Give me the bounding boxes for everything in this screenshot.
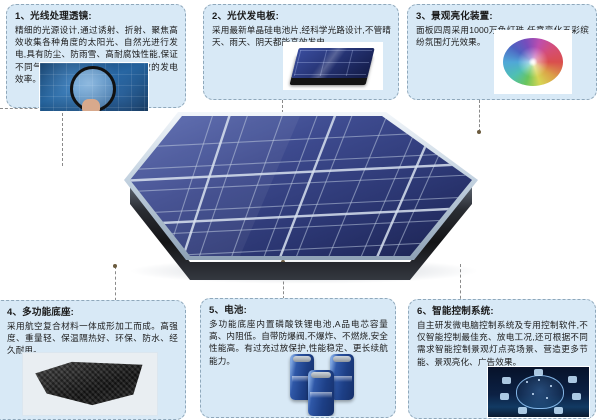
callout-title-4: 4、多功能底座: [7,306,178,319]
color-wheel-graphic [503,38,563,86]
callout-title-1: 1、光线处理透镜: [15,10,178,23]
iot-icon [502,377,511,384]
solar-module-photo [283,42,383,90]
hexagonal-solar-panel-render [120,108,490,296]
callout-title-3: 3、景观亮化装置: [416,10,589,23]
callout-title-6: 6、智能控制系统: [417,305,588,318]
lithium-cells-photo [272,352,386,416]
network-node [546,397,548,399]
iot-icon [572,393,581,400]
connector-line-p1 [62,108,63,166]
color-wheel-photo [494,30,572,94]
infographic-stage: 1、光线处理透镜: 精细的光源设计,通过诱射、折射、聚焦高效收集各种角度的太阳光… [0,0,600,418]
network-node [526,381,528,383]
iot-icon [554,407,563,414]
iot-icon [568,376,577,383]
carbon-fiber-base-photo [22,352,158,416]
callout-title-5: 5、电池: [209,304,388,317]
hand-icon [82,99,100,112]
network-node [538,379,540,381]
network-node [550,385,552,387]
iot-icon [534,369,543,376]
network-node [532,393,534,395]
battery-cell-front [308,370,334,416]
connector-dot-bottom-left [113,264,117,268]
iot-icon [518,407,527,414]
solar-module-glare [291,48,374,78]
panel-body [120,108,490,296]
callout-body-6: 自主研发微电脑控制系统及专用控制软件,不仅智能控制最佳充、放电工况,还可根据不同… [417,319,588,368]
callout-title-2: 2、光伏发电板: [212,10,391,23]
iot-icon [500,393,509,400]
neural-network-icon [516,375,564,409]
magnifier-lens-photo [39,62,149,112]
smart-control-photo [487,366,590,418]
carbon-fiber-base-graphic [33,359,147,407]
